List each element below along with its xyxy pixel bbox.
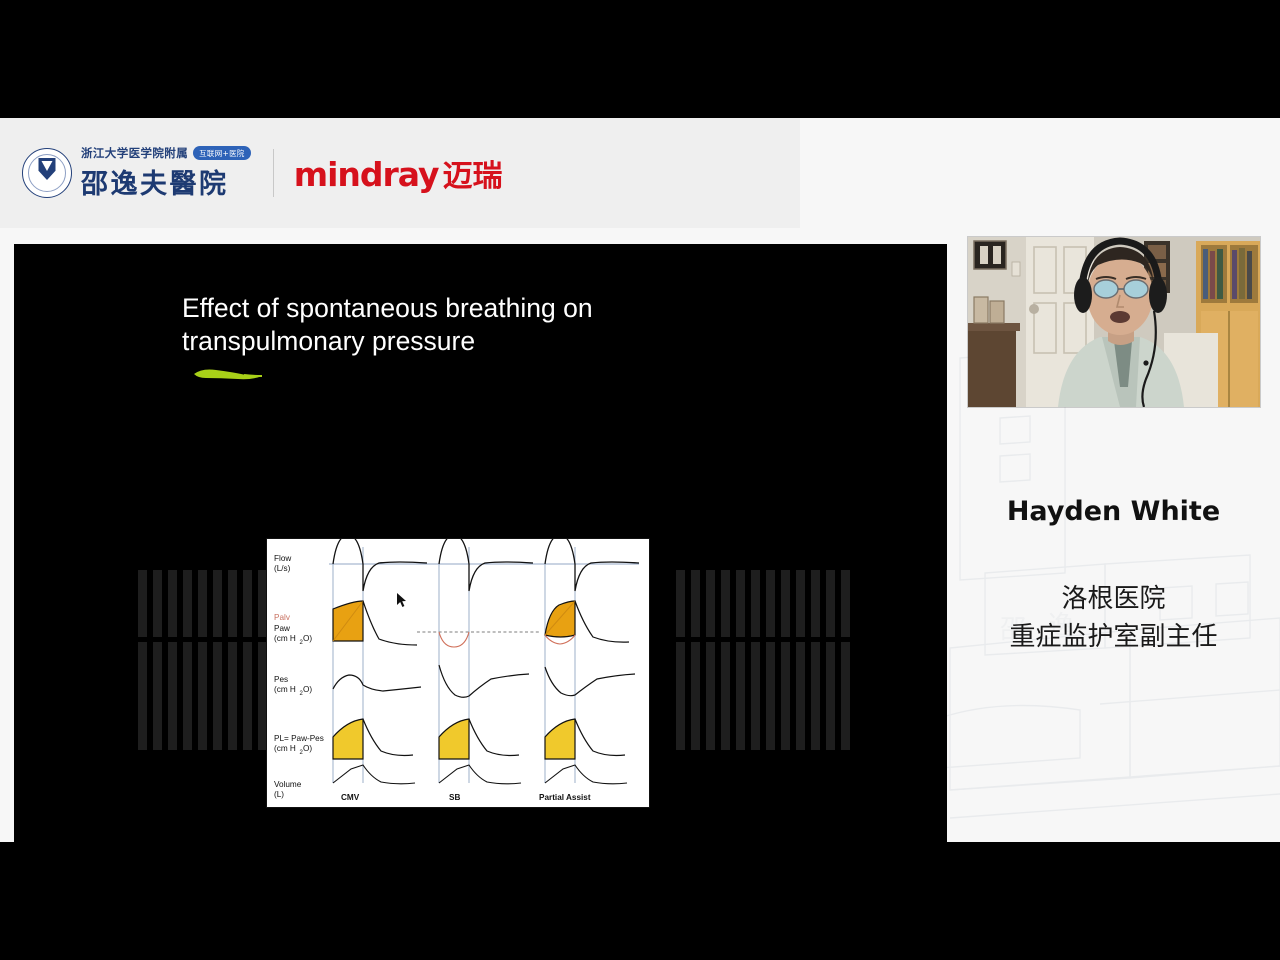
svg-text:(cm H: (cm H — [274, 685, 296, 694]
logo-divider — [273, 149, 274, 197]
svg-text:Flow: Flow — [274, 554, 291, 563]
slide-title: Effect of spontaneous breathing on trans… — [182, 292, 702, 358]
logo-row: 浙江大学医学院附属 互联网+医院 邵逸夫醫院 mindray 迈瑞 — [22, 136, 503, 210]
svg-text:Volume: Volume — [274, 780, 302, 789]
speaker-organization: 洛根医院 — [947, 580, 1280, 618]
header-bar: 浙江大学医学院附属 互联网+医院 邵逸夫醫院 mindray 迈瑞 — [0, 118, 800, 228]
svg-text:Partial Assist: Partial Assist — [539, 793, 591, 802]
mindray-name-en: mindray — [294, 155, 439, 194]
speaker-webcam[interactable] — [968, 237, 1260, 407]
speaker-name: Hayden White — [947, 496, 1280, 527]
svg-text:O): O) — [303, 744, 312, 753]
respiratory-waveform-figure: Flow (L/s) Palv Paw (cm H2O) Pes (cm H2O… — [266, 538, 650, 808]
speaker-panel: Hayden White 洛根医院 重症监护室副主任 — [947, 118, 1280, 842]
hospital-badge: 互联网+医院 — [193, 146, 251, 160]
highlight-scribble-icon — [192, 366, 266, 382]
presentation-slide[interactable]: Effect of spontaneous breathing on trans… — [14, 244, 947, 842]
svg-text:Paw: Paw — [274, 624, 290, 633]
hospital-crest-icon — [22, 148, 72, 198]
svg-text:SB: SB — [449, 793, 460, 802]
svg-text:Pes: Pes — [274, 675, 288, 684]
mindray-logo: mindray 迈瑞 — [294, 151, 503, 195]
hospital-name: 邵逸夫醫院 — [81, 162, 251, 201]
hospital-affiliation: 浙江大学医学院附属 — [81, 145, 188, 161]
slide-title-line-2: transpulmonary pressure — [182, 325, 702, 358]
svg-text:CMV: CMV — [341, 793, 360, 802]
svg-text:(L): (L) — [274, 790, 284, 799]
app-window: 邵 逸 浙江大学医学院附属 互联网+医院 邵逸夫醫院 — [0, 0, 1280, 960]
svg-text:PL= Paw-Pes: PL= Paw-Pes — [274, 734, 324, 743]
svg-text:(cm H: (cm H — [274, 634, 296, 643]
svg-text:(L/s): (L/s) — [274, 564, 291, 573]
svg-text:(cm H: (cm H — [274, 744, 296, 753]
speaker-role: 重症监护室副主任 — [947, 618, 1280, 656]
svg-text:O): O) — [303, 685, 312, 694]
visualizer-bars-right — [674, 570, 854, 750]
svg-text:O): O) — [303, 634, 312, 643]
mindray-name-cn: 迈瑞 — [443, 151, 503, 195]
slide-title-line-1: Effect of spontaneous breathing on — [182, 292, 702, 325]
hospital-logo-text: 浙江大学医学院附属 互联网+医院 邵逸夫醫院 — [81, 145, 251, 201]
svg-text:Palv: Palv — [274, 613, 291, 622]
content-band: 邵 逸 浙江大学医学院附属 互联网+医院 邵逸夫醫院 — [0, 118, 1280, 842]
